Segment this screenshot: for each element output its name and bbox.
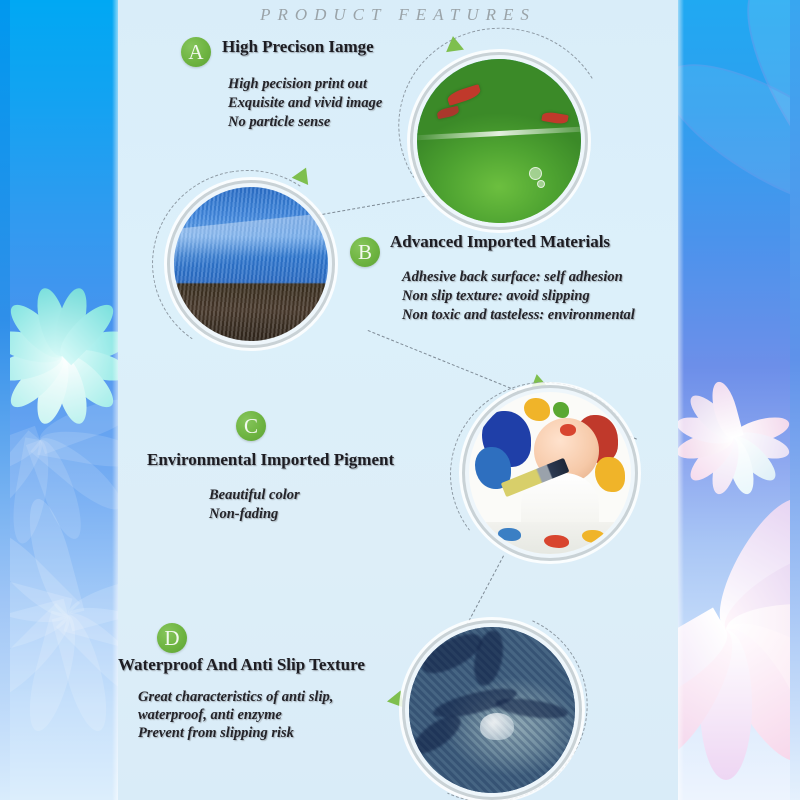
feature-title-c: Environmental Imported Pigment (147, 450, 394, 470)
feature-line-b-3: Non toxic and tasteless: environmental (402, 306, 635, 325)
feature-line-c-1: Beautiful color (209, 486, 300, 505)
photo-blue-ribbed-fabric (174, 187, 328, 341)
feature-line-d-1: Great characteristics of anti slip, (138, 688, 333, 707)
photo-baby-with-paintbrush (469, 392, 631, 554)
feature-badge-a: A (181, 37, 211, 67)
feature-title-a: High Precison Iamge (222, 37, 374, 57)
feature-line-a-3: No particle sense (228, 113, 330, 132)
feature-line-b-1: Adhesive back surface: self adhesion (402, 268, 623, 287)
photo-waterproof-texture-droplet (409, 627, 575, 793)
feature-line-c-2: Non-fading (209, 505, 278, 524)
photo-water-fish-field (417, 59, 581, 223)
page-title: PRODUCT FEATURES (118, 5, 678, 25)
left-edge-strip (0, 0, 10, 800)
infographic-canvas: PRODUCT FEATURES A High Precison Iamge H… (0, 0, 800, 800)
feature-badge-d: D (157, 623, 187, 653)
feature-title-b: Advanced Imported Materials (390, 232, 610, 252)
feature-image-d (402, 620, 582, 800)
left-decorative-border (0, 0, 118, 800)
right-edge-strip (790, 0, 800, 800)
feature-image-b (167, 180, 335, 348)
feature-line-d-2: waterproof, anti enzyme (138, 706, 282, 725)
right-decorative-border (678, 0, 800, 800)
right-inner-seam (678, 0, 684, 800)
feature-line-d-3: Prevent from slipping risk (138, 724, 294, 743)
feature-line-a-1: High pecision print out (228, 75, 367, 94)
feature-line-b-2: Non slip texture: avoid slipping (402, 287, 590, 306)
feature-line-a-2: Exquisite and vivid image (228, 94, 382, 113)
feature-image-c (462, 385, 638, 561)
feature-title-d: Waterproof And Anti Slip Texture (118, 655, 365, 675)
arrow-to-a (444, 35, 464, 52)
feature-image-a (410, 52, 588, 230)
content-panel: PRODUCT FEATURES A High Precison Iamge H… (118, 0, 678, 800)
feature-badge-b: B (350, 237, 380, 267)
feature-badge-c: C (236, 411, 266, 441)
